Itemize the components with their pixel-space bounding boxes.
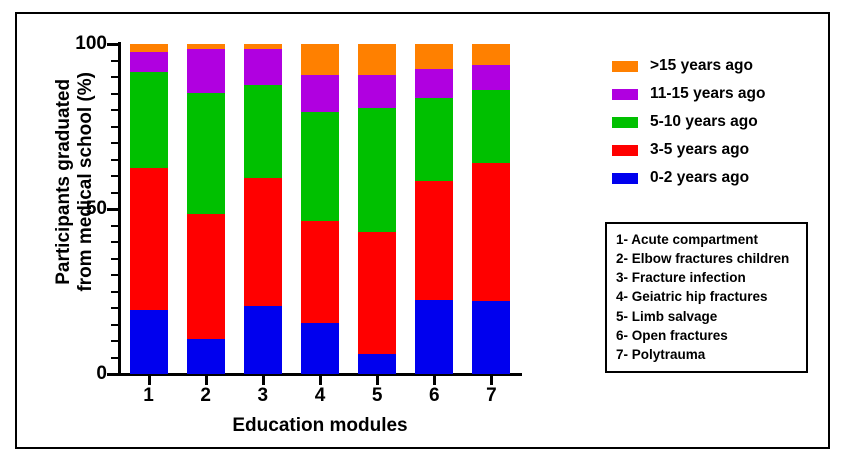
y-axis-minor-tick bbox=[111, 159, 119, 161]
bar-segment--15-years-ago bbox=[415, 44, 453, 69]
y-axis-minor-tick bbox=[111, 109, 119, 111]
x-axis-tick-label: 5 bbox=[357, 386, 397, 405]
legend-swatch-orange bbox=[612, 61, 638, 72]
y-axis-minor-tick bbox=[111, 126, 119, 128]
y-axis-minor-tick bbox=[111, 274, 119, 276]
bar-segment--15-years-ago bbox=[472, 44, 510, 65]
bar-segment-3-5-years-ago bbox=[187, 214, 225, 339]
y-axis-minor-tick bbox=[111, 60, 119, 62]
legend-item[interactable]: 3-5 years ago bbox=[612, 136, 812, 164]
legend-item[interactable]: 0-2 years ago bbox=[612, 164, 812, 192]
module-key-row: 5- Limb salvage bbox=[616, 307, 798, 326]
module-key-row: 3- Fracture infection bbox=[616, 268, 798, 287]
y-axis-minor-tick bbox=[111, 76, 119, 78]
y-axis-minor-tick bbox=[111, 307, 119, 309]
y-axis-minor-tick bbox=[111, 258, 119, 260]
y-axis-minor-tick bbox=[111, 357, 119, 359]
bar-segment-0-2-years-ago bbox=[187, 339, 225, 374]
legend-swatch-blue bbox=[612, 173, 638, 184]
module-key-box: 1- Acute compartment2- Elbow fractures c… bbox=[605, 222, 808, 373]
legend-item[interactable]: 11-15 years ago bbox=[612, 80, 812, 108]
y-axis-minor-tick bbox=[111, 241, 119, 243]
legend-item-label: 0-2 years ago bbox=[650, 169, 749, 187]
legend-swatch-green bbox=[612, 117, 638, 128]
y-axis-minor-tick bbox=[111, 340, 119, 342]
bar-segment-11-15-years-ago bbox=[130, 52, 168, 72]
y-axis-minor-tick bbox=[111, 175, 119, 177]
bar-segment-3-5-years-ago bbox=[415, 181, 453, 300]
bar-segment--15-years-ago bbox=[301, 44, 339, 75]
x-axis-tick-label: 2 bbox=[186, 386, 226, 405]
y-axis-title: Participants graduated from medical scho… bbox=[53, 32, 97, 332]
bar-segment-11-15-years-ago bbox=[415, 69, 453, 99]
bar-module-2 bbox=[187, 44, 225, 374]
x-axis-tick bbox=[205, 376, 208, 385]
bar-segment-5-10-years-ago bbox=[358, 108, 396, 232]
x-axis-title: Education modules bbox=[118, 415, 522, 437]
bar-segment-11-15-years-ago bbox=[301, 75, 339, 111]
legend-item[interactable]: >15 years ago bbox=[612, 52, 812, 80]
bar-segment-3-5-years-ago bbox=[130, 168, 168, 310]
module-key-row: 6- Open fractures bbox=[616, 326, 798, 345]
bar-module-7 bbox=[472, 44, 510, 374]
x-axis-tick bbox=[490, 376, 493, 385]
legend: >15 years ago11-15 years ago5-10 years a… bbox=[612, 52, 812, 192]
figure-root: 050100 1234567 Education modules Partici… bbox=[0, 0, 845, 463]
bar-segment-3-5-years-ago bbox=[358, 232, 396, 354]
bar-segment-3-5-years-ago bbox=[244, 178, 282, 307]
bar-segment-5-10-years-ago bbox=[244, 85, 282, 177]
bar-segment-0-2-years-ago bbox=[130, 310, 168, 374]
bar-segment-5-10-years-ago bbox=[187, 93, 225, 213]
legend-swatch-red bbox=[612, 145, 638, 156]
bar-segment-11-15-years-ago bbox=[358, 75, 396, 108]
x-axis-tick-label: 7 bbox=[471, 386, 511, 405]
bar-segment-0-2-years-ago bbox=[244, 306, 282, 374]
bar-segment-5-10-years-ago bbox=[415, 98, 453, 181]
bar-module-3 bbox=[244, 44, 282, 374]
legend-item[interactable]: 5-10 years ago bbox=[612, 108, 812, 136]
x-axis-tick-label: 6 bbox=[414, 386, 454, 405]
bar-segment--15-years-ago bbox=[358, 44, 396, 75]
module-key-row: 1- Acute compartment bbox=[616, 230, 798, 249]
x-axis-tick bbox=[262, 376, 265, 385]
legend-item-label: 3-5 years ago bbox=[650, 141, 749, 159]
y-axis-title-line-1: Participants graduated bbox=[53, 79, 74, 285]
legend-swatch-purple bbox=[612, 89, 638, 100]
bar-module-5 bbox=[358, 44, 396, 374]
bar-segment-11-15-years-ago bbox=[187, 49, 225, 94]
module-key-row: 4- Geiatric hip fractures bbox=[616, 287, 798, 306]
bar-segment-0-2-years-ago bbox=[301, 323, 339, 374]
x-axis-tick bbox=[319, 376, 322, 385]
y-axis-major-tick bbox=[107, 208, 119, 211]
bar-segment--15-years-ago bbox=[130, 44, 168, 52]
plot-area bbox=[120, 44, 520, 374]
module-key-row: 7- Polytrauma bbox=[616, 345, 798, 364]
x-axis-tick-label: 1 bbox=[129, 386, 169, 405]
x-axis-tick-label: 3 bbox=[243, 386, 283, 405]
x-axis-tick bbox=[433, 376, 436, 385]
legend-item-label: 5-10 years ago bbox=[650, 113, 758, 131]
y-axis-minor-tick bbox=[111, 142, 119, 144]
bar-segment-5-10-years-ago bbox=[130, 72, 168, 168]
module-key-row: 2- Elbow fractures children bbox=[616, 249, 798, 268]
y-axis-minor-tick bbox=[111, 225, 119, 227]
bar-segment-5-10-years-ago bbox=[301, 112, 339, 221]
bar-module-6 bbox=[415, 44, 453, 374]
y-axis-minor-tick bbox=[111, 93, 119, 95]
bar-module-1 bbox=[130, 44, 168, 374]
legend-item-label: >15 years ago bbox=[650, 57, 753, 75]
bar-module-4 bbox=[301, 44, 339, 374]
bar-segment-11-15-years-ago bbox=[244, 49, 282, 85]
bar-segment-0-2-years-ago bbox=[415, 300, 453, 374]
bar-segment-3-5-years-ago bbox=[472, 163, 510, 302]
y-axis-minor-tick bbox=[111, 291, 119, 293]
legend-item-label: 11-15 years ago bbox=[650, 85, 765, 103]
bar-segment-0-2-years-ago bbox=[472, 301, 510, 374]
bar-segment-3-5-years-ago bbox=[301, 221, 339, 323]
y-axis-title-line-2: from medical school (%) bbox=[75, 72, 96, 292]
y-axis-major-tick bbox=[107, 373, 119, 376]
x-axis-tick-label: 4 bbox=[300, 386, 340, 405]
bar-segment-0-2-years-ago bbox=[358, 354, 396, 374]
x-axis-tick bbox=[148, 376, 151, 385]
bar-segment-11-15-years-ago bbox=[472, 65, 510, 90]
bar-segment-5-10-years-ago bbox=[472, 90, 510, 163]
y-axis-minor-tick bbox=[111, 324, 119, 326]
x-axis-tick bbox=[376, 376, 379, 385]
y-axis-minor-tick bbox=[111, 192, 119, 194]
y-axis-major-tick bbox=[107, 43, 119, 46]
y-axis-tick-label: 0 bbox=[47, 364, 107, 383]
